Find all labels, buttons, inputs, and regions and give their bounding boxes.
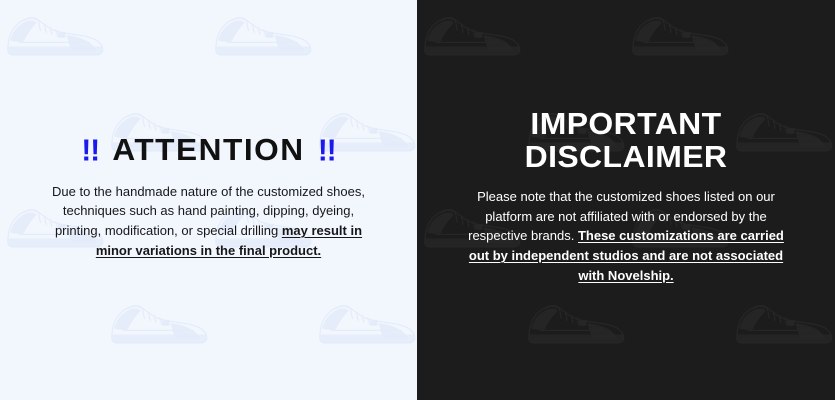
attention-heading-text: ATTENTION (112, 134, 304, 165)
disclaimer-panel: IMPORTANT DISCLAIMER Please note that th… (417, 0, 835, 400)
disclaimer-heading-line-2: DISCLAIMER (444, 141, 809, 173)
exclamation-icon-left: !! (81, 136, 99, 166)
attention-panel: !!ATTENTION!! Due to the handmade nature… (0, 0, 417, 400)
disclaimer-heading: IMPORTANT DISCLAIMER (444, 108, 809, 172)
attention-heading: !!ATTENTION!! (28, 134, 388, 166)
exclamation-icon-right: !! (318, 136, 336, 166)
disclaimer-panel-content: IMPORTANT DISCLAIMER Please note that th… (417, 108, 835, 285)
disclaimer-banner: !!ATTENTION!! Due to the handmade nature… (0, 0, 835, 400)
attention-panel-content: !!ATTENTION!! Due to the handmade nature… (0, 134, 417, 261)
attention-body: Due to the handmade nature of the custom… (50, 182, 368, 261)
disclaimer-heading-line-1: IMPORTANT (444, 108, 809, 140)
disclaimer-body: Please note that the customized shoes li… (461, 187, 791, 286)
